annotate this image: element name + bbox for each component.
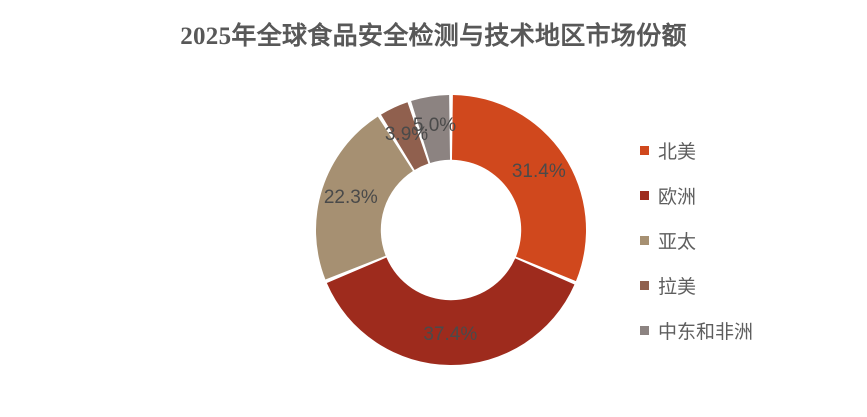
pie-slice[interactable] [452,95,586,281]
legend-item[interactable]: 北美 [640,128,840,173]
legend-item[interactable]: 拉美 [640,263,840,308]
slice-group [316,95,586,365]
donut-chart-figure: 2025年全球食品安全检测与技术地区市场份额 31.4%37.4%22.3%3.… [0,0,867,417]
legend-item-label: 拉美 [658,272,696,299]
legend-item[interactable]: 亚太 [640,218,840,263]
pie-slice[interactable] [327,258,575,365]
chart-legend: 北美欧洲亚太拉美中东和非洲 [640,128,840,353]
legend-item[interactable]: 欧洲 [640,173,840,218]
legend-swatch-icon [640,236,649,245]
legend-item-label: 北美 [658,137,696,164]
legend-item[interactable]: 中东和非洲 [640,308,840,353]
legend-swatch-icon [640,326,649,335]
legend-swatch-icon [640,281,649,290]
legend-item-label: 亚太 [658,227,696,254]
legend-swatch-icon [640,146,649,155]
legend-swatch-icon [640,191,649,200]
legend-item-label: 中东和非洲 [658,317,753,344]
legend-item-label: 欧洲 [658,182,696,209]
